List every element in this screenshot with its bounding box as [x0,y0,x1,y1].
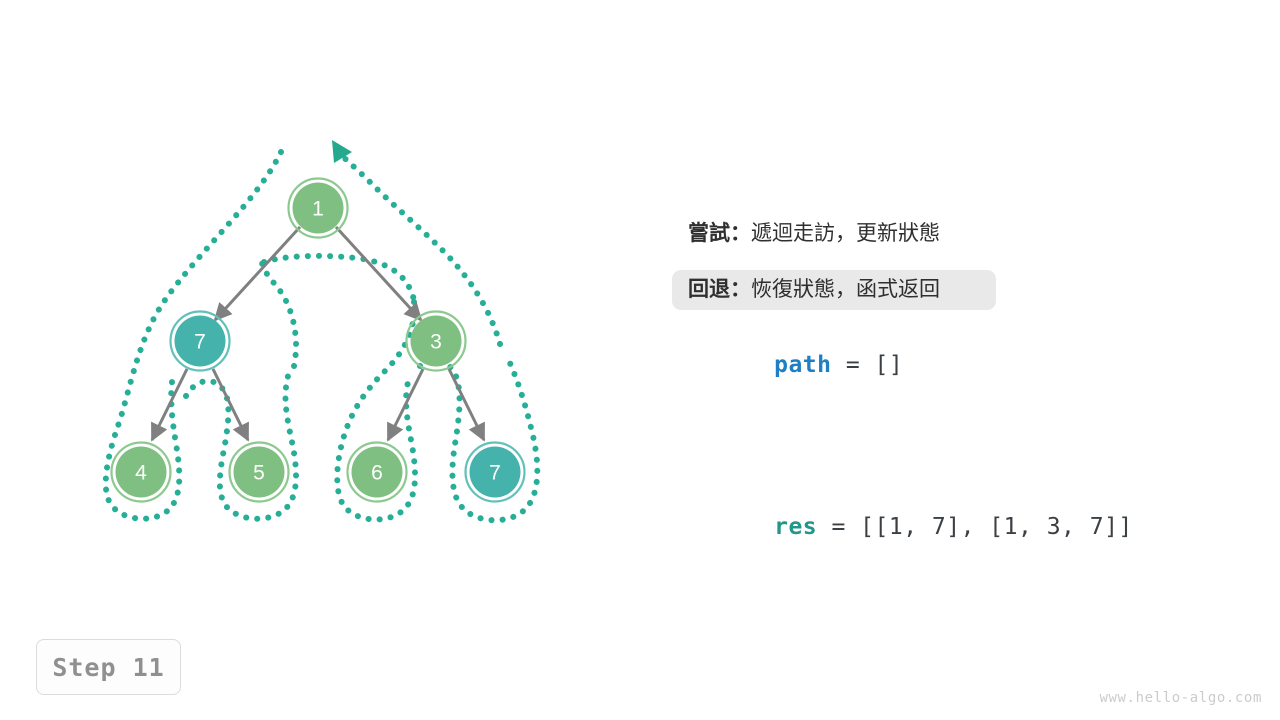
info-panel: 嘗試：遞迴走訪，更新狀態 回退：恢復狀態，函式返回 path = [] res … [688,214,1248,566]
dfs-path-outer-right [338,152,500,344]
path-variable-line: path = [] [688,326,1248,404]
animation-canvas: 1 7 3 4 5 [0,0,1280,720]
edge-3-7b [449,369,484,440]
description-try-keyword: 嘗試： [688,222,751,245]
path-variable-value: = [] [831,352,903,378]
tree-node-5-label: 5 [253,462,265,485]
description-return-keyword: 回退： [688,278,751,301]
tree-node-6-label: 6 [371,462,383,485]
tree-node-3-label: 3 [430,331,442,354]
binary-tree-diagram: 1 7 3 4 5 [0,0,660,600]
tree-node-1[interactable]: 1 [289,179,348,238]
description-try: 嘗試：遞迴走訪，更新狀態 [672,214,996,254]
step-badge-label: Step 11 [52,653,164,682]
tree-node-4-label: 4 [135,462,147,485]
tree-node-7a[interactable]: 7 [171,312,230,371]
res-variable-line: res = [[1, 7], [1, 3, 7]] [688,488,1248,566]
tree-node-5[interactable]: 5 [230,443,289,502]
path-variable-name: path [774,352,831,378]
dfs-path-crown [264,256,414,300]
traversal-marker-icon [332,140,352,163]
tree-node-7b[interactable]: 7 [466,443,525,502]
edge-1-3 [336,227,421,320]
tree-node-3[interactable]: 3 [407,312,466,371]
description-return-text: 恢復狀態，函式返回 [751,278,940,301]
edge-7a-4 [152,369,187,440]
watermark: www.hello-algo.com [1099,690,1262,706]
tree-node-6[interactable]: 6 [348,443,407,502]
tree-node-7b-label: 7 [489,462,501,485]
edge-1-7a [215,227,300,320]
description-return: 回退：恢復狀態，函式返回 [672,270,996,310]
tree-nodes: 1 7 3 4 5 [112,179,525,502]
description-try-text: 遞迴走訪，更新狀態 [751,222,940,245]
tree-node-4[interactable]: 4 [112,443,171,502]
tree-node-1-label: 1 [312,198,324,221]
res-variable-value: = [[1, 7], [1, 3, 7]] [817,514,1133,540]
edge-7a-5 [213,369,248,440]
edge-3-6 [388,369,423,440]
res-variable-name: res [774,514,817,540]
step-badge: Step 11 [36,639,181,695]
dfs-path-inner-left-up [262,262,296,366]
tree-node-7a-label: 7 [194,331,206,354]
